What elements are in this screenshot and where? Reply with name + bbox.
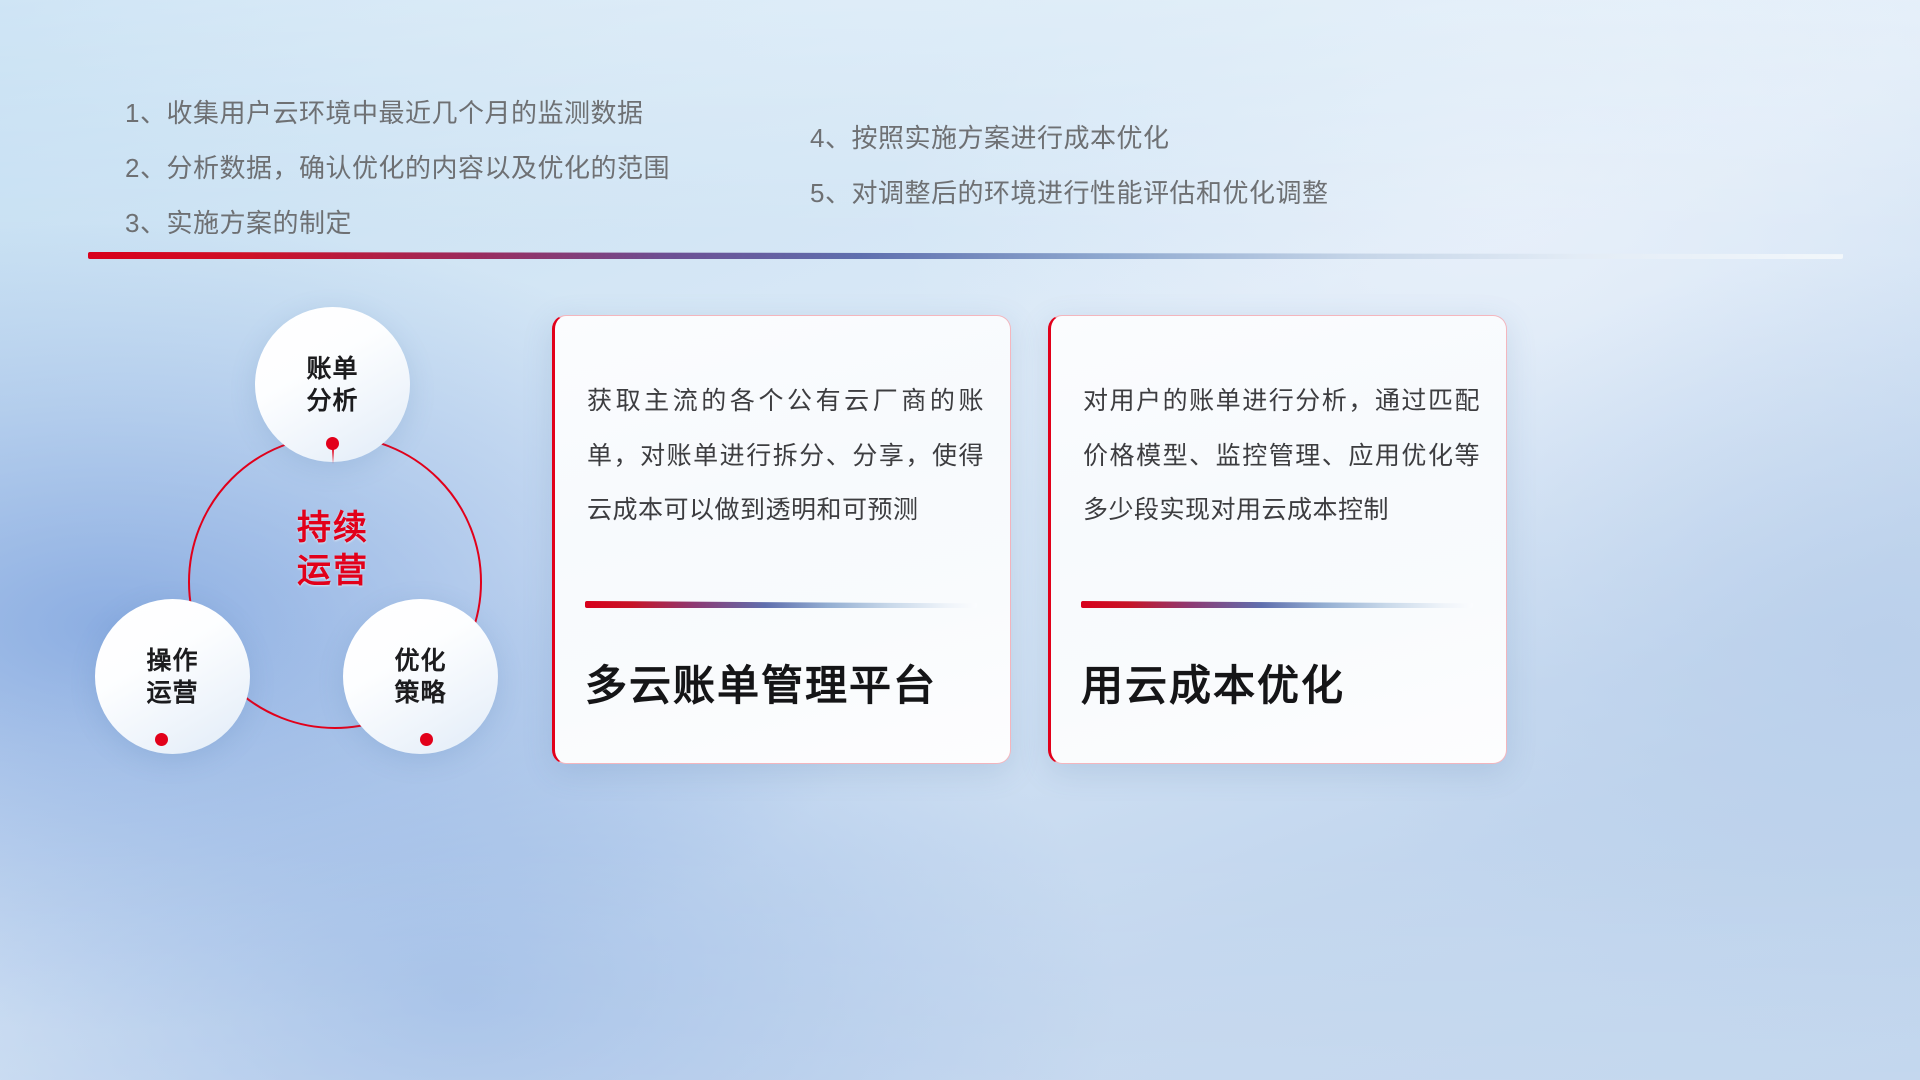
card-multi-cloud-billing[interactable]: 获取主流的各个公有云厂商的账单，对账单进行拆分、分享，使得云成本可以做到透明和可…	[552, 315, 1011, 764]
connector-dot-right	[420, 733, 433, 746]
step-item-4: 4、按照实施方案进行成本优化	[810, 125, 1328, 151]
bubble-label-line1: 账单	[306, 353, 358, 385]
card-title: 多云账单管理平台	[585, 652, 937, 713]
diagram-bubble-operations[interactable]: 操作 运营	[95, 599, 250, 754]
center-label-line1: 持续	[188, 507, 478, 550]
steps-left-column: 1、收集用户云环境中最近几个月的监测数据 2、分析数据，确认优化的内容以及优化的…	[125, 100, 670, 265]
step-item-1: 1、收集用户云环境中最近几个月的监测数据	[125, 100, 670, 126]
diagram-center-label: 持续 运营	[188, 507, 478, 592]
bubble-label-line2: 策略	[394, 677, 446, 709]
bubble-label-line2: 运营	[146, 677, 198, 709]
steps-right-column: 4、按照实施方案进行成本优化 5、对调整后的环境进行性能评估和优化调整	[810, 125, 1328, 235]
center-label-line2: 运营	[188, 550, 478, 593]
step-item-3: 3、实施方案的制定	[125, 210, 670, 236]
card-title: 用云成本优化	[1081, 652, 1345, 713]
step-item-5: 5、对调整后的环境进行性能评估和优化调整	[810, 180, 1328, 206]
continuous-operation-diagram: 持续 运营 账单 分析 操作 运营 优化 策略	[75, 285, 545, 775]
card-body-text: 对用户的账单进行分析，通过匹配价格模型、监控管理、应用优化等多少段实现对用云成本…	[1083, 374, 1480, 538]
connector-dot-top	[326, 437, 339, 450]
step-item-2: 2、分析数据，确认优化的内容以及优化的范围	[125, 155, 670, 181]
bubble-label-line1: 优化	[394, 645, 446, 677]
connector-dot-left	[155, 733, 168, 746]
card-divider	[585, 601, 977, 608]
bubble-label-line2: 分析	[306, 385, 358, 417]
card-cloud-cost-optimization[interactable]: 对用户的账单进行分析，通过匹配价格模型、监控管理、应用优化等多少段实现对用云成本…	[1048, 315, 1507, 764]
diagram-bubble-optimization-strategy[interactable]: 优化 策略	[343, 599, 498, 754]
card-divider	[1081, 601, 1473, 608]
bubble-label-line1: 操作	[146, 645, 198, 677]
connector-stem-top	[332, 448, 334, 464]
card-body-text: 获取主流的各个公有云厂商的账单，对账单进行拆分、分享，使得云成本可以做到透明和可…	[587, 374, 984, 538]
